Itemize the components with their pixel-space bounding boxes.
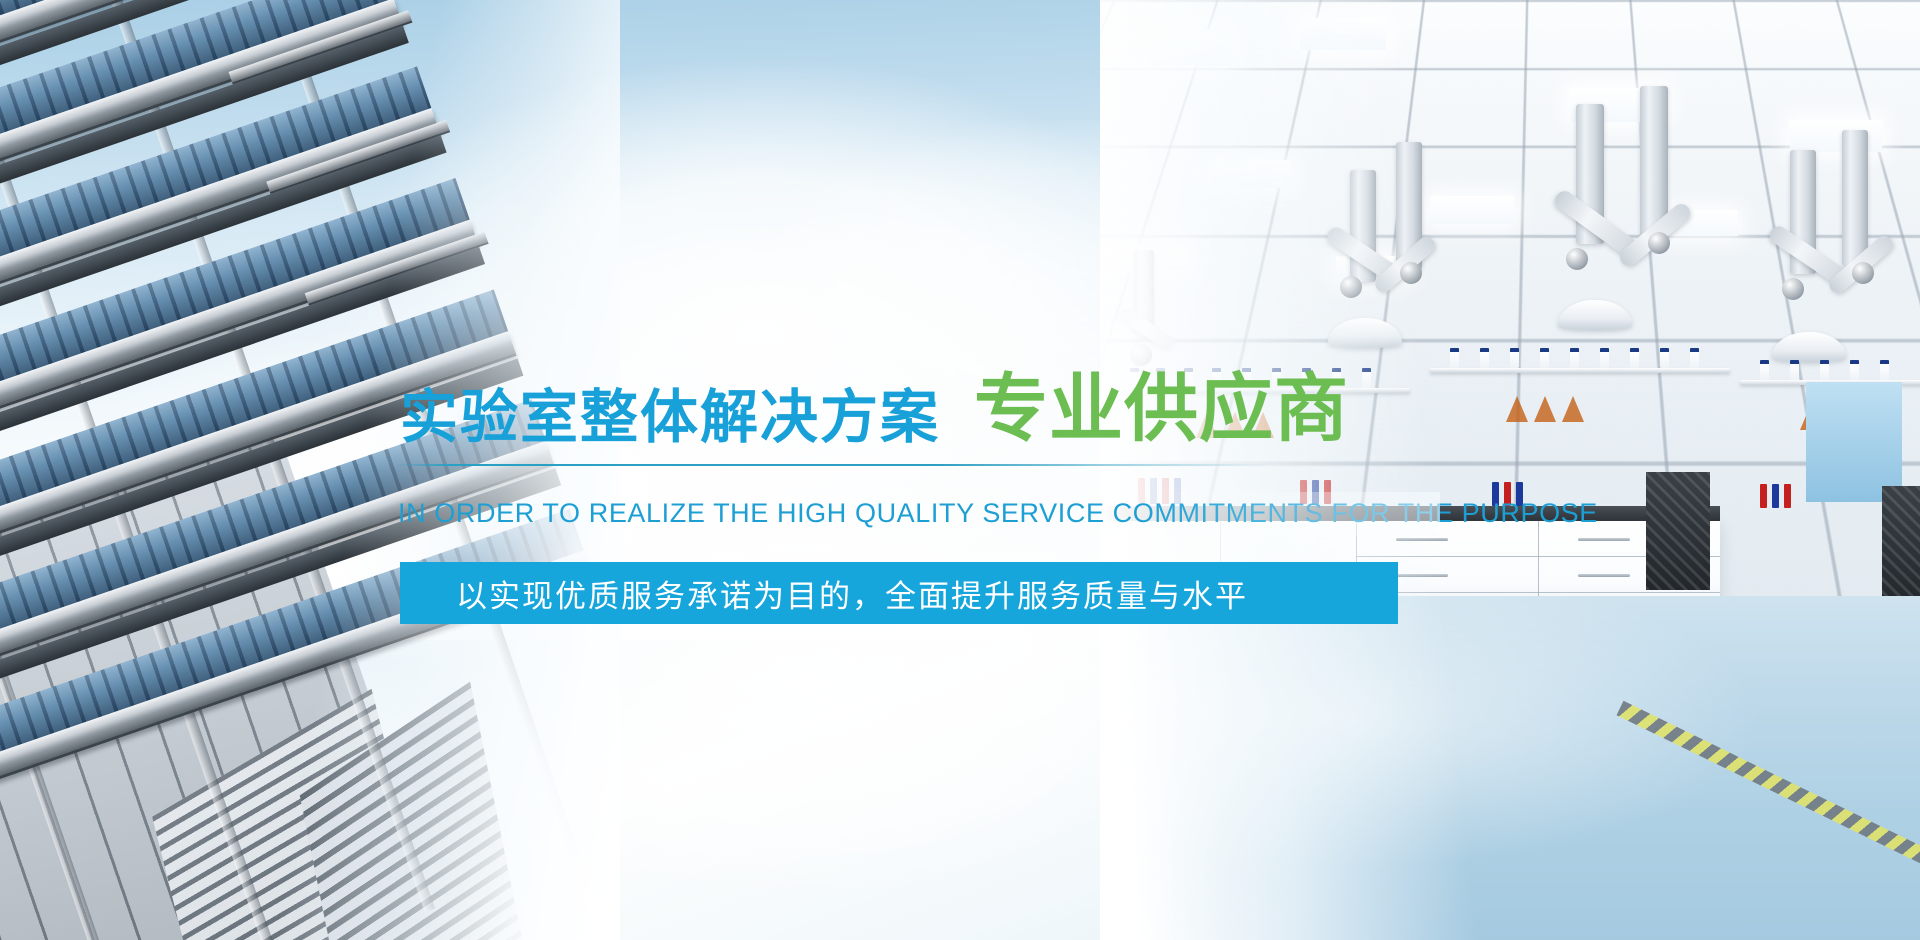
headline-accent: 专业供应商 (974, 372, 1349, 446)
banner-text-layer: 实验室整体解决方案 专业供应商 IN ORDER TO REALIZE THE … (0, 0, 1920, 940)
callout-text: 以实现优质服务承诺为目的，全面提升服务质量与水平 (400, 571, 1248, 616)
hero-banner: 实验室整体解决方案 专业供应商 IN ORDER TO REALIZE THE … (0, 0, 1920, 940)
subtitle-english: IN ORDER TO REALIZE THE HIGH QUALITY SER… (398, 498, 1598, 529)
headline-divider-rule (396, 464, 1266, 466)
headline-group: 实验室整体解决方案 专业供应商 (400, 372, 1349, 446)
headline-primary: 实验室整体解决方案 (400, 388, 940, 446)
callout-bar: 以实现优质服务承诺为目的，全面提升服务质量与水平 (400, 562, 1398, 624)
